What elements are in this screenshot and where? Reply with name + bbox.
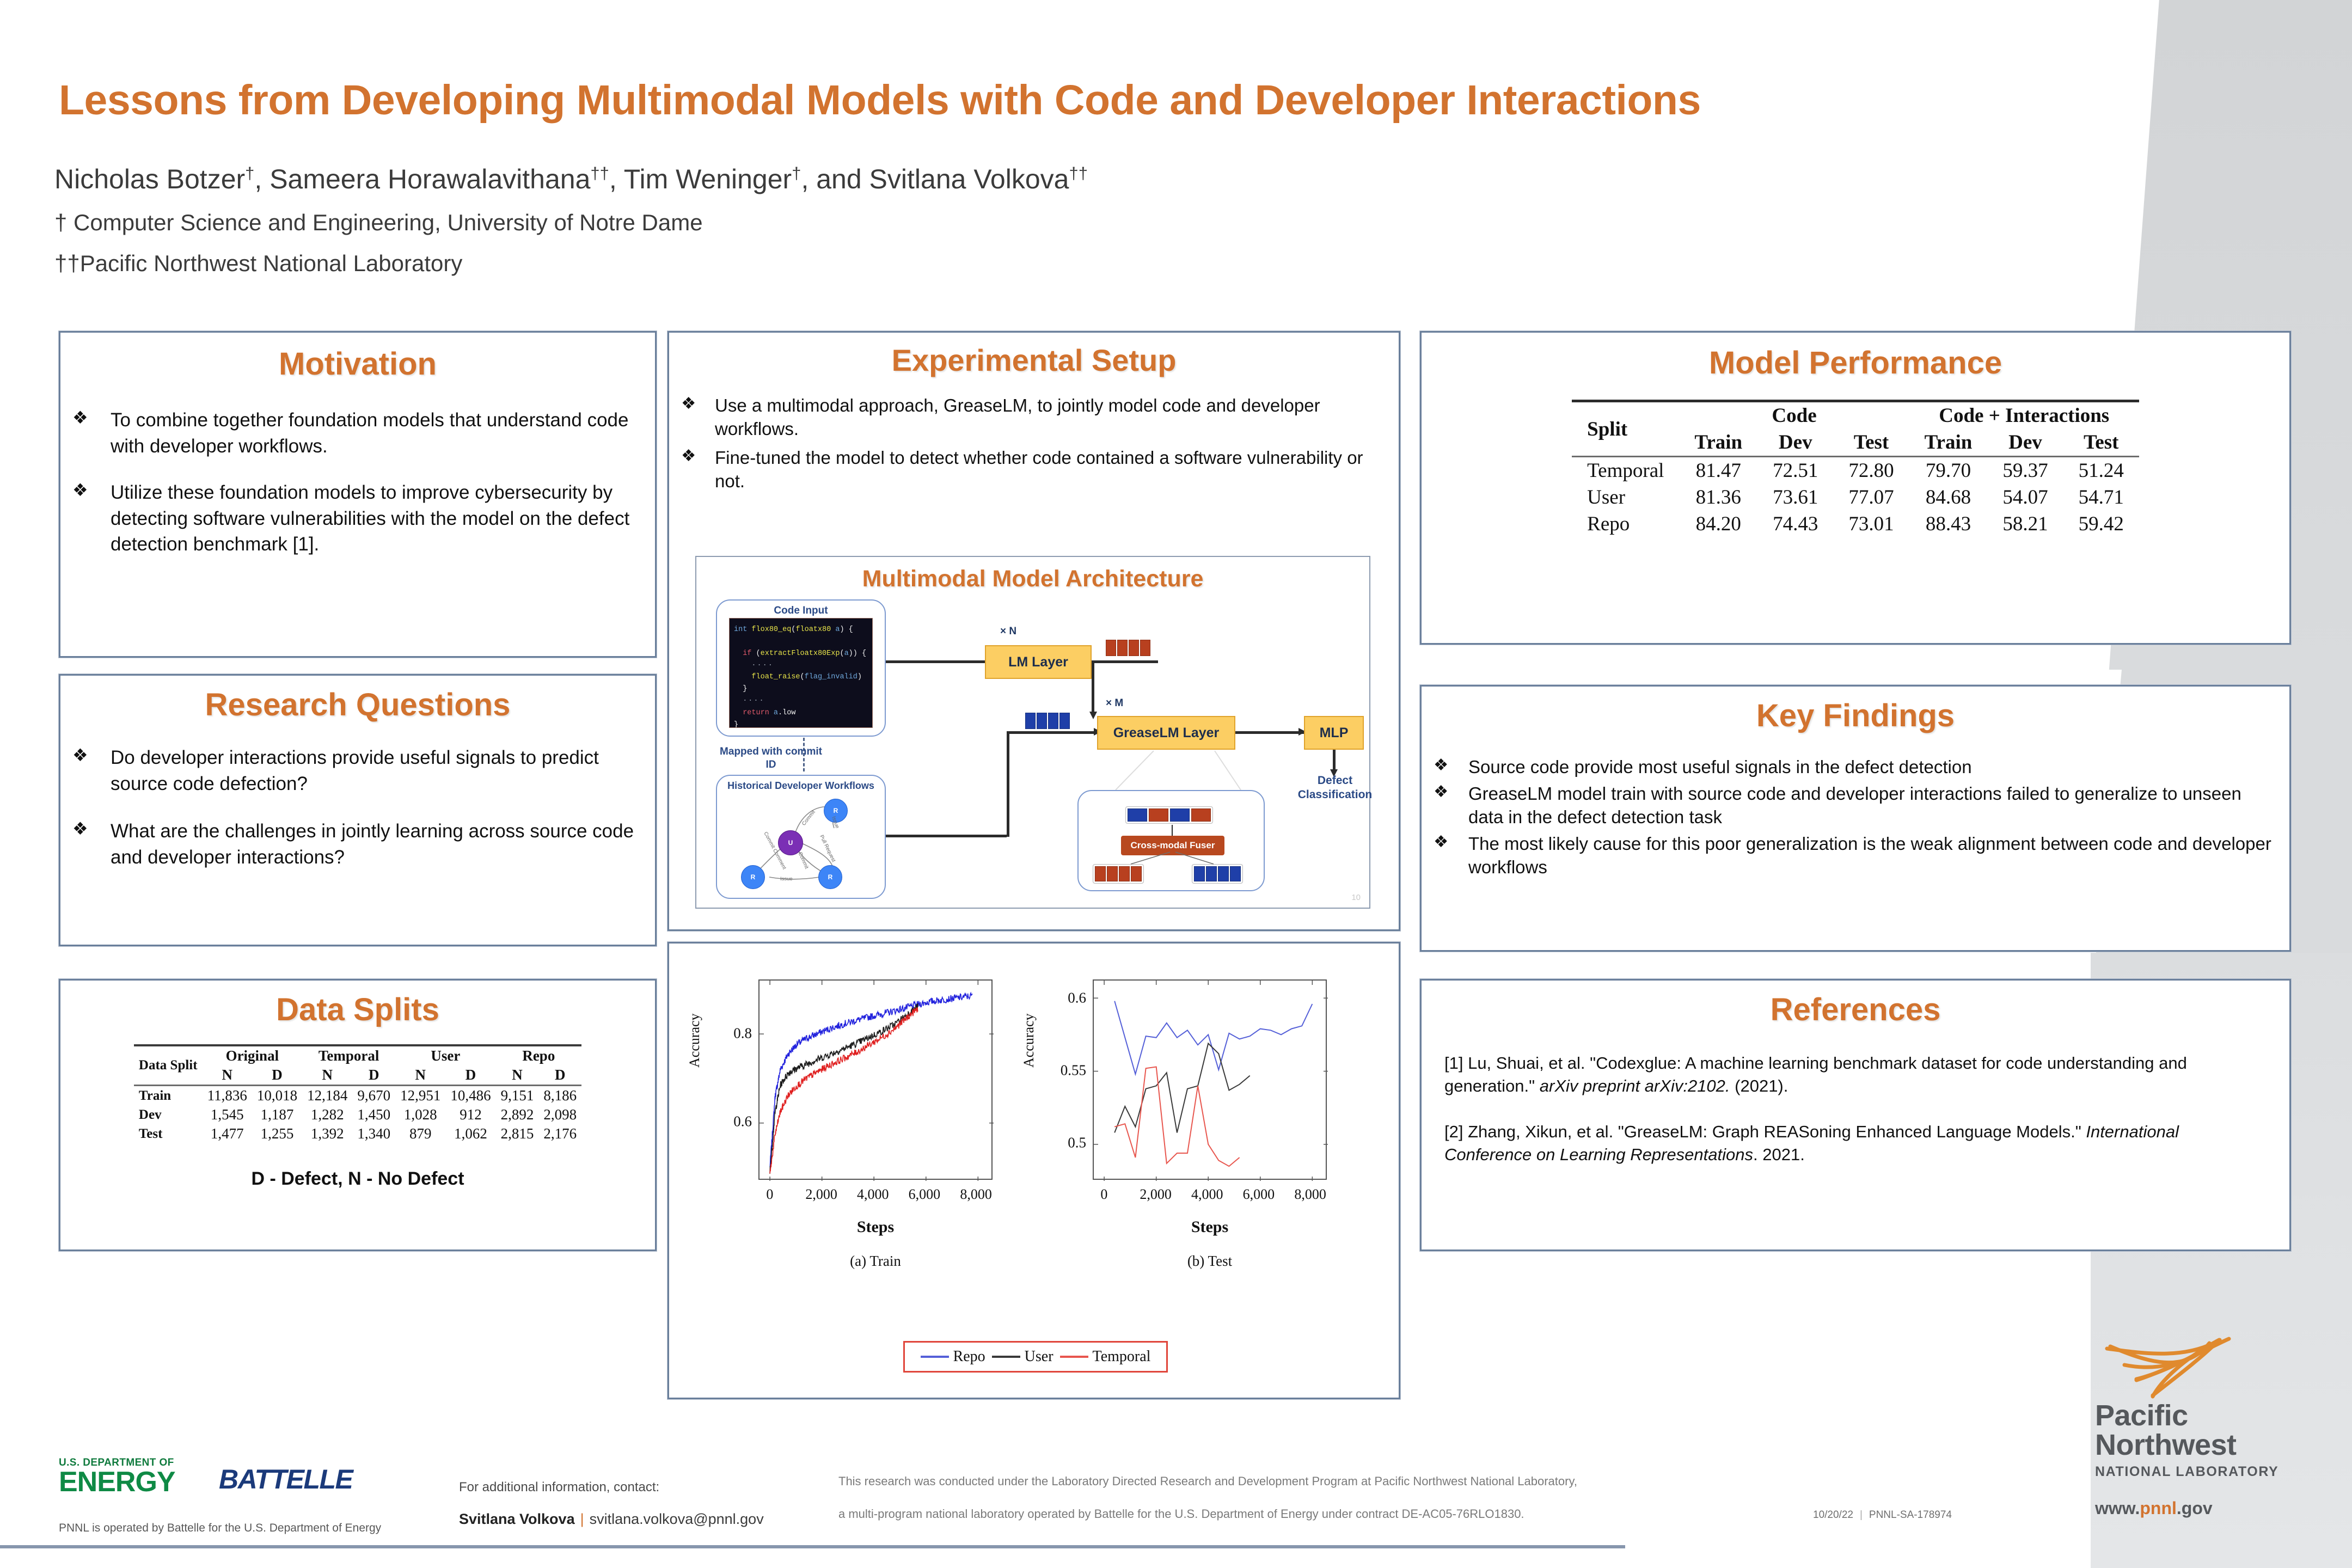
pnnl-name-line-1: Pacific	[2095, 1401, 2313, 1430]
row-label: Temporal	[1572, 457, 1679, 485]
chart-train-plot-area: 0.6 0.8 0 2,000 4,000 6,000 8,000	[758, 979, 993, 1180]
cell: 73.61	[1757, 484, 1833, 511]
pnnl-url-prefix: www.	[2095, 1498, 2140, 1518]
defect-classification-label: Defect Classification	[1294, 774, 1376, 803]
chart-test-ytick: 0.5	[1068, 1134, 1086, 1151]
key-findings-title: Key Findings	[1422, 697, 2289, 734]
list-item: Use a multimodal approach, GreaseLM, to …	[669, 394, 1382, 441]
chip	[1230, 866, 1241, 881]
table-row: User 81.36 73.61 77.07 84.68 54.07 54.71	[1572, 484, 2139, 511]
legend-item-user: User	[992, 1348, 1053, 1365]
chart-test-series-svg	[1094, 981, 1328, 1181]
group-header-repo: Repo	[496, 1045, 582, 1065]
sub-header: Train	[1679, 429, 1757, 457]
lm-layer-box: LM Layer	[985, 645, 1092, 679]
chip	[1129, 640, 1139, 656]
contact-name: Svitlana Volkova	[459, 1511, 575, 1527]
chart-test-plot-area: 0.5 0.55 0.6 0 2,000 4,000 6,000 8,000	[1093, 979, 1327, 1180]
contact-email[interactable]: svitlana.volkova@pnnl.gov	[590, 1511, 764, 1527]
wire-code-to-lm	[886, 660, 985, 663]
document-date: 10/20/22	[1813, 1509, 1853, 1521]
legend-item-repo: Repo	[921, 1348, 985, 1365]
cell: 81.36	[1679, 484, 1757, 511]
cell: 1,028	[395, 1105, 445, 1124]
chip	[1194, 866, 1205, 881]
chip	[1107, 866, 1118, 881]
slide-number: 10	[1351, 893, 1361, 902]
mlp-box: MLP	[1304, 716, 1364, 750]
affiliation-notre-dame: † Computer Science and Engineering, Univ…	[54, 210, 703, 236]
chart-train-xtick: 4,000	[857, 1186, 889, 1203]
chart-test: Accuracy 0.5 0.55 0.6 0 2,000 4,000 6,00…	[1028, 970, 1344, 1351]
chart-test-xlabel: Steps	[1093, 1218, 1327, 1236]
sub-header: Train	[1909, 429, 1988, 457]
cell: 2,176	[538, 1124, 581, 1143]
list-item: Source code provide most useful signals …	[1422, 756, 2274, 779]
panel-experimental-setup: Experimental Setup Use a multimodal appr…	[667, 331, 1400, 931]
list-item: Utilize these foundation models to impro…	[60, 480, 635, 558]
chip	[1095, 866, 1106, 881]
panel-references: References [1] Lu, Shuai, et al. "Codexg…	[1420, 979, 2291, 1251]
row-label: Repo	[1572, 511, 1679, 537]
panel-motivation: Motivation To combine together foundatio…	[59, 331, 657, 658]
doe-logo-main-text: ENERGY	[59, 1469, 175, 1496]
chart-test-xtick: 4,000	[1191, 1186, 1223, 1203]
cell: 9,151	[496, 1086, 539, 1106]
cell: 9,670	[352, 1086, 395, 1106]
workflow-node-repo-2: R	[741, 865, 765, 889]
cell: 73.01	[1833, 511, 1909, 537]
experimental-setup-title: Experimental Setup	[669, 342, 1399, 378]
chart-train-ylabel: Accuracy	[687, 1013, 703, 1068]
legend-label-repo: Repo	[953, 1348, 985, 1365]
cell: 1,392	[302, 1124, 352, 1143]
sub-header: N	[302, 1065, 352, 1086]
cell: 12,951	[395, 1086, 445, 1106]
cell: 1,282	[302, 1105, 352, 1124]
chip	[1117, 640, 1128, 656]
architecture-diagram: Multimodal Model Architecture Code Input…	[695, 556, 1370, 909]
author-list: Nicholas Botzer†, Sameera Horawalavithan…	[54, 163, 1688, 195]
series-user	[1114, 1044, 1250, 1133]
lm-layer-multiplier: × N	[1000, 626, 1016, 638]
group-header-code: Code	[1679, 401, 1909, 430]
doe-logo: U.S. DEPARTMENT OF ENERGY	[59, 1457, 175, 1496]
page-title: Lessons from Developing Multimodal Model…	[59, 76, 2209, 125]
chart-test-ytick: 0.55	[1061, 1062, 1086, 1079]
column-header-split: Split	[1572, 401, 1679, 457]
list-item: Fine-tuned the model to detect whether c…	[669, 446, 1382, 493]
data-splits-title: Data Splits	[60, 991, 655, 1028]
list-item: Do developer interactions provide useful…	[60, 745, 635, 797]
cell: 912	[445, 1105, 495, 1124]
references-title: References	[1422, 991, 2289, 1028]
series-temporal	[1114, 1067, 1239, 1167]
chip	[1128, 808, 1147, 822]
motivation-bullet-list: To combine together foundation models th…	[60, 407, 655, 558]
sub-header: D	[445, 1065, 495, 1086]
cell: 1,477	[203, 1124, 252, 1143]
list-item: The most likely cause for this poor gene…	[1422, 832, 2274, 879]
list-item: What are the challenges in jointly learn…	[60, 818, 635, 870]
cell: 2,815	[496, 1124, 539, 1143]
chip	[1131, 866, 1142, 881]
cell: 1,340	[352, 1124, 395, 1143]
row-label: Train	[134, 1086, 203, 1106]
chip	[1170, 808, 1190, 822]
chip	[1048, 713, 1058, 729]
sub-header: D	[252, 1065, 302, 1086]
data-splits-legend-note: D - Defect, N - No Defect	[60, 1168, 655, 1190]
chip	[1149, 808, 1168, 822]
chart-test-ylabel: Accuracy	[1021, 1013, 1037, 1068]
workflow-node-repo-3: R	[818, 865, 842, 889]
series-repo	[770, 993, 972, 1167]
pnnl-url-brand: pnnl	[2140, 1498, 2177, 1518]
chip	[1059, 713, 1070, 729]
table-header-row: Split Code Code + Interactions	[1572, 401, 2139, 430]
cell: 54.07	[1987, 484, 2063, 511]
chart-train-xlabel: Steps	[758, 1218, 993, 1236]
metadata-separator: |	[1860, 1509, 1863, 1521]
chip	[1119, 866, 1130, 881]
legend-label-temporal: Temporal	[1093, 1348, 1151, 1365]
cell: 1,255	[252, 1124, 302, 1143]
code-line: }	[734, 683, 868, 695]
chart-train-xtick: 8,000	[960, 1186, 992, 1203]
sub-header: Test	[2063, 429, 2139, 457]
funding-statement-line-1: This research was conducted under the La…	[838, 1474, 1577, 1489]
group-header-original: Original	[203, 1045, 303, 1065]
pnnl-url-suffix: .gov	[2177, 1498, 2213, 1518]
cell: 79.70	[1909, 457, 1988, 485]
experimental-setup-bullet-list: Use a multimodal approach, GreaseLM, to …	[669, 394, 1399, 493]
dagger-4: ††	[1069, 163, 1087, 182]
edge-label-issue-2: Issue	[780, 876, 793, 882]
motivation-title: Motivation	[60, 346, 655, 382]
contact-info: Svitlana Volkova|svitlana.volkova@pnnl.g…	[459, 1511, 764, 1528]
fuser-input-chips-code	[1093, 864, 1144, 884]
legend-swatch-repo	[921, 1356, 949, 1358]
code-line	[734, 636, 868, 648]
chart-test-xtick: 8,000	[1294, 1186, 1326, 1203]
table-row: Repo 84.20 74.43 73.01 88.43 58.21 59.42	[1572, 511, 2139, 537]
sub-header: D	[538, 1065, 581, 1086]
table-row: Temporal 81.47 72.51 72.80 79.70 59.37 5…	[1572, 457, 2139, 485]
cell: 81.47	[1679, 457, 1757, 485]
cross-modal-fuser-box: Cross-modal Fuser	[1121, 836, 1224, 855]
code-line: int flox80_eq(floatx80 a) {	[734, 624, 868, 636]
cell: 1,187	[252, 1105, 302, 1124]
cell: 54.71	[2063, 484, 2139, 511]
table-row: Train 11,836 10,018 12,184 9,670 12,951 …	[134, 1086, 581, 1106]
pnnl-url[interactable]: www.pnnl.gov	[2095, 1498, 2313, 1518]
chart-test-xtick: 2,000	[1140, 1186, 1172, 1203]
dagger-1: †	[245, 163, 254, 182]
funding-statement-line-2: a multi-program national laboratory oper…	[838, 1507, 1524, 1521]
reference-2-tail: . 2021.	[1753, 1145, 1805, 1164]
sub-header: N	[395, 1065, 445, 1086]
chip	[1206, 866, 1217, 881]
panel-data-splits: Data Splits Data Split Original Temporal…	[59, 979, 657, 1251]
series-repo	[1114, 1001, 1312, 1074]
chart-train-series-svg	[759, 981, 994, 1181]
contact-separator: |	[580, 1511, 584, 1527]
code-embedding-chips	[1106, 640, 1150, 656]
data-splits-table: Data Split Original Temporal User Repo N…	[134, 1044, 581, 1143]
chart-train-xtick: 0	[766, 1186, 773, 1203]
chart-train-xtick: 2,000	[805, 1186, 837, 1203]
chip	[1218, 866, 1229, 881]
cell: 74.43	[1757, 511, 1833, 537]
cell: 2,098	[538, 1105, 581, 1124]
chart-test-xtick: 0	[1100, 1186, 1107, 1203]
panel-accuracy-charts: Accuracy 0.6 0.8 0 2,000 4,000 6,000 8,0…	[667, 942, 1400, 1399]
chart-train: Accuracy 0.6 0.8 0 2,000 4,000 6,000 8,0…	[694, 970, 1010, 1351]
table-header-row: Data Split Original Temporal User Repo	[134, 1045, 581, 1065]
cell: 51.24	[2063, 457, 2139, 485]
cell: 879	[395, 1124, 445, 1143]
reference-1-tail: (2021).	[1730, 1076, 1788, 1095]
chart-train-xtick: 6,000	[909, 1186, 941, 1203]
wire-workflow-to-greaselm-v	[1007, 732, 1009, 837]
greaselm-layer-box: GreaseLM Layer	[1097, 716, 1235, 750]
row-label: Test	[134, 1124, 203, 1143]
chart-train-caption: (a) Train	[758, 1253, 993, 1270]
workflow-node-user: U	[778, 830, 803, 855]
cell: 11,836	[203, 1086, 252, 1106]
legend-swatch-temporal	[1060, 1356, 1088, 1358]
wire-lm-to-greaselm-v	[1092, 660, 1094, 715]
wire-greaselm-to-mlp	[1235, 731, 1304, 734]
chart-test-ytick: 0.6	[1068, 989, 1086, 1006]
dagger-3: †	[792, 163, 801, 182]
sub-header: N	[203, 1065, 252, 1086]
architecture-title: Multimodal Model Architecture	[696, 566, 1369, 592]
cell: 10,486	[445, 1086, 495, 1106]
document-id: PNNL-SA-178974	[1869, 1509, 1952, 1521]
chip	[1037, 713, 1047, 729]
pnnl-swoosh-icon	[2103, 1337, 2239, 1401]
list-item: GreaseLM model train with source code an…	[1422, 782, 2274, 829]
sub-header: N	[496, 1065, 539, 1086]
list-item: To combine together foundation models th…	[60, 407, 635, 459]
model-performance-title: Model Performance	[1422, 345, 2289, 381]
battelle-logo: BATTELLE	[219, 1463, 352, 1495]
legend-label-user: User	[1025, 1348, 1053, 1365]
chip	[1140, 640, 1150, 656]
reference-2-text: [2] Zhang, Xikun, et al. "GreaseLM: Grap…	[1444, 1122, 2086, 1141]
code-line: ····	[734, 695, 868, 707]
panel-research-questions: Research Questions Do developer interact…	[59, 674, 657, 946]
code-input-card: Code Input int flox80_eq(floatx80 a) { i…	[716, 599, 886, 737]
pnnl-operated-by-text: PNNL is operated by Battelle for the U.S…	[59, 1522, 381, 1535]
panel-key-findings: Key Findings Source code provide most us…	[1420, 685, 2291, 952]
chip	[1025, 713, 1036, 729]
cell: 59.37	[1987, 457, 2063, 485]
author-1: Nicholas Botzer	[54, 164, 245, 194]
chart-train-ytick: 0.8	[733, 1025, 752, 1042]
model-performance-table: Split Code Code + Interactions Train Dev…	[1572, 400, 2139, 537]
wire-mlp-to-output	[1333, 750, 1336, 773]
column-header-split: Data Split	[134, 1045, 203, 1086]
sub-header: Dev	[1987, 429, 2063, 457]
code-line: if (extractFloatx80Exp(a)) {	[734, 648, 868, 660]
row-label: Dev	[134, 1105, 203, 1124]
sub-header: Dev	[1757, 429, 1833, 457]
cross-modal-fuser-card: Cross-modal Fuser	[1077, 790, 1265, 891]
group-header-temporal: Temporal	[302, 1045, 395, 1065]
mapped-with-commit-id-label: Mapped with commit ID	[719, 745, 823, 771]
cell: 1,545	[203, 1105, 252, 1124]
code-line: float_raise(flag_invalid)	[734, 671, 868, 683]
footer-divider	[0, 1545, 1625, 1548]
cell: 84.68	[1909, 484, 1988, 511]
cell: 10,018	[252, 1086, 302, 1106]
chart-test-caption: (b) Test	[1093, 1253, 1327, 1270]
cell: 1,450	[352, 1105, 395, 1124]
code-line: ····	[734, 660, 868, 672]
developer-workflow-card: Historical Developer Workflows R U R R C…	[716, 775, 886, 899]
wire-workflow-to-greaselm-h1	[886, 835, 1007, 837]
cell: 59.42	[2063, 511, 2139, 537]
legend-item-temporal: Temporal	[1060, 1348, 1151, 1365]
cell: 2,892	[496, 1105, 539, 1124]
greaselm-layer-multiplier: × M	[1106, 697, 1123, 709]
chart-test-xtick: 6,000	[1243, 1186, 1275, 1203]
pnnl-name-line-2: Northwest	[2095, 1430, 2313, 1460]
cell: 12,184	[302, 1086, 352, 1106]
cell: 58.21	[1987, 511, 2063, 537]
chart-train-ytick: 0.6	[733, 1113, 752, 1130]
research-questions-title: Research Questions	[60, 687, 655, 723]
code-snippet: int flox80_eq(floatx80 a) { if (extractF…	[729, 618, 873, 728]
cell: 1,062	[445, 1124, 495, 1143]
affiliation-pnnl: ††Pacific Northwest National Laboratory	[54, 250, 462, 277]
graph-embedding-chips	[1025, 713, 1070, 729]
chart-legend: Repo User Temporal	[903, 1341, 1168, 1373]
panel-model-performance: Model Performance Split Code Code + Inte…	[1420, 331, 2291, 645]
reference-entry-2: [2] Zhang, Xikun, et al. "GreaseLM: Grap…	[1444, 1120, 2267, 1166]
cell: 84.20	[1679, 511, 1757, 537]
fused-output-chips	[1125, 806, 1213, 824]
legend-swatch-user	[992, 1356, 1020, 1358]
sub-header: D	[352, 1065, 395, 1086]
row-label: User	[1572, 484, 1679, 511]
reference-1-italic: arXiv preprint arXiv:2102.	[1540, 1076, 1730, 1095]
cell: 88.43	[1909, 511, 1988, 537]
cell: 8,186	[538, 1086, 581, 1106]
wire-workflow-to-greaselm-h2	[1007, 731, 1099, 734]
cell: 72.51	[1757, 457, 1833, 485]
contact-heading: For additional information, contact:	[459, 1480, 659, 1495]
code-input-label: Code Input	[717, 605, 885, 617]
code-line: return a.low	[734, 707, 868, 719]
table-row: Dev 1,545 1,187 1,282 1,450 1,028 912 2,…	[134, 1105, 581, 1124]
chip	[1106, 640, 1116, 656]
research-questions-bullet-list: Do developer interactions provide useful…	[60, 745, 655, 870]
dagger-2: ††	[590, 163, 609, 182]
table-row: Test 1,477 1,255 1,392 1,340 879 1,062 2…	[134, 1124, 581, 1143]
chip	[1191, 808, 1211, 822]
sub-header: Test	[1833, 429, 1909, 457]
group-header-code-interactions: Code + Interactions	[1909, 401, 2139, 430]
pnnl-sub-text: NATIONAL LABORATORY	[2095, 1464, 2313, 1480]
pnnl-logo: Pacific Northwest NATIONAL LABORATORY ww…	[2095, 1337, 2313, 1518]
group-header-user: User	[395, 1045, 496, 1065]
fuser-input-chips-graph	[1192, 864, 1243, 884]
code-line: }	[734, 719, 868, 728]
reference-entry-1: [1] Lu, Shuai, et al. "Codexglue: A mach…	[1444, 1052, 2267, 1098]
cell: 77.07	[1833, 484, 1909, 511]
document-metadata: 10/20/22|PNNL-SA-178974	[1813, 1509, 1952, 1521]
cell: 72.80	[1833, 457, 1909, 485]
key-findings-bullet-list: Source code provide most useful signals …	[1422, 756, 2289, 879]
wire-lm-to-greaselm-h	[1092, 660, 1158, 663]
series-temporal	[770, 1007, 918, 1173]
